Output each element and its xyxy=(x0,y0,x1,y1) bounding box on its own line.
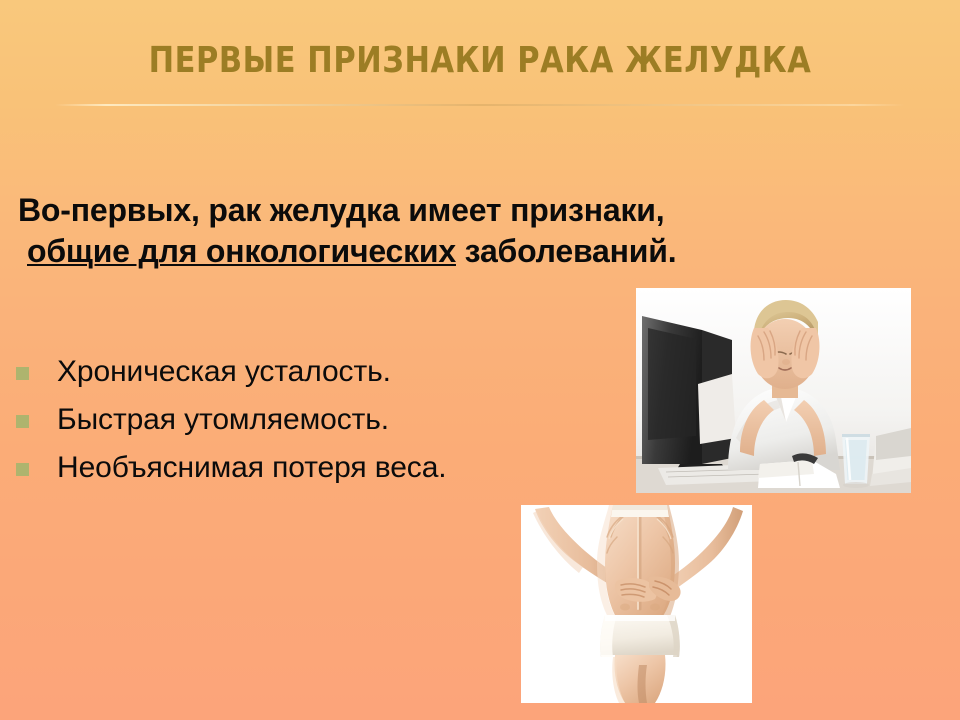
lead-line-2: общие для онкологических заболеваний. xyxy=(18,231,718,272)
square-bullet-icon xyxy=(16,415,29,428)
slide-header: Первые признаки рака желудка xyxy=(0,42,960,80)
list-item: Необъяснимая потеря веса. xyxy=(16,444,636,492)
list-item-label: Хроническая усталость. xyxy=(57,355,391,389)
lead-line-1: Во-первых, рак желудка имеет признаки, xyxy=(18,190,718,231)
square-bullet-icon xyxy=(16,463,29,476)
title-divider xyxy=(55,104,905,106)
list-item-label: Быстрая утомляемость. xyxy=(57,403,389,437)
square-bullet-icon xyxy=(16,367,29,380)
lead-line-2-underlined: общие для онкологических xyxy=(27,233,456,269)
list-item: Хроническая усталость. xyxy=(16,348,636,396)
page-title: Первые признаки рака желудка xyxy=(29,42,931,80)
lead-paragraph: Во-первых, рак желудка имеет признаки, о… xyxy=(18,190,718,272)
thin-woman-torso-photo xyxy=(521,505,752,703)
lead-line-2-plain: заболеваний. xyxy=(456,233,676,269)
list-item: Быстрая утомляемость. xyxy=(16,396,636,444)
tired-woman-at-desk-photo xyxy=(636,288,911,493)
symptom-list: Хроническая усталость. Быстрая утомляемо… xyxy=(16,348,636,492)
list-item-label: Необъяснимая потеря веса. xyxy=(57,451,447,485)
presentation-slide: Первые признаки рака желудка Во-первых, … xyxy=(0,0,960,720)
